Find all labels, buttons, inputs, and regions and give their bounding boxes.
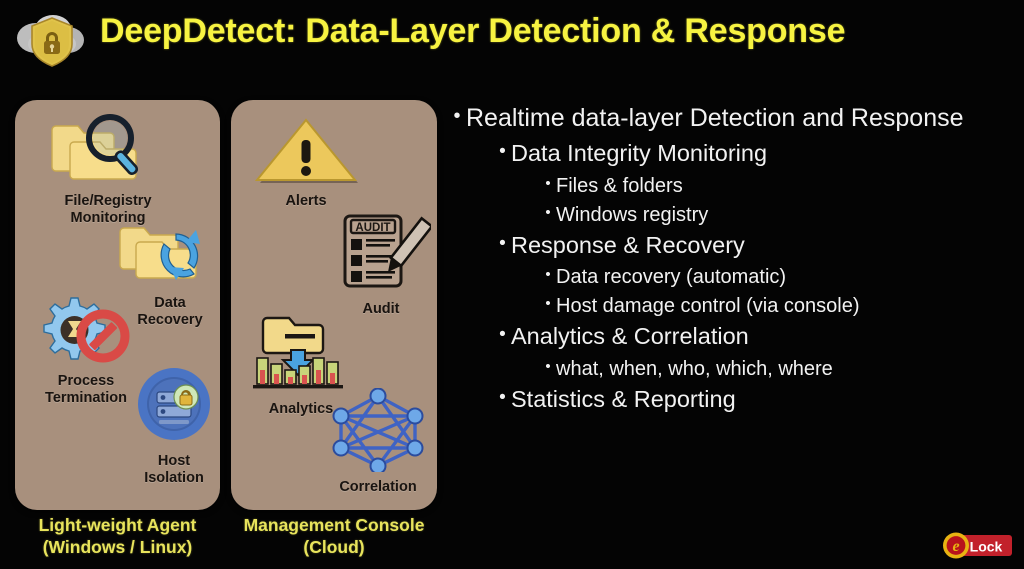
caption-light-weight-agent: Light-weight Agent (Windows / Linux) [6,514,229,559]
node-host-isolation: Host Isolation [119,364,229,486]
bullet-text: Data recovery (automatic) [556,267,786,287]
bullet-item: •Realtime data-layer Detection and Respo… [448,106,1024,131]
bullet-marker-icon: • [494,234,511,253]
slide-header: DeepDetect: Data-Layer Detection & Respo… [0,0,1024,78]
bullet-marker-icon: • [540,267,556,283]
caption-line-2: (Windows / Linux) [6,536,229,558]
folders-refresh-icon [111,218,229,293]
server-padlock-circle-icon [119,364,229,451]
node-graph-icon [319,388,437,477]
bullet-marker-icon: • [540,176,556,192]
page-title: DeepDetect: Data-Layer Detection & Respo… [100,12,845,51]
bullet-marker-icon: • [448,106,466,126]
node-file-registry-monitoring: File/Registry Monitoring [33,108,183,226]
bullet-item: •Host damage control (via console) [540,296,1024,316]
elock-wordmark: Lock [970,539,1003,555]
bullet-text: Statistics & Reporting [511,388,736,412]
folder-download-barchart-icon [237,308,365,399]
bullet-marker-icon: • [540,296,556,312]
bullet-item: •what, when, who, which, where [540,359,1024,379]
bullet-text: Host damage control (via console) [556,296,859,316]
bullet-item: •Response & Recovery [494,234,1024,258]
bullet-item: •Statistics & Reporting [494,388,1024,412]
elock-logo: e Lock [940,531,1014,561]
bullet-text: Data Integrity Monitoring [511,142,767,166]
bullet-marker-icon: • [494,388,511,407]
bullet-text: Windows registry [556,205,708,225]
node-alerts: Alerts [241,114,371,210]
gear-prohibited-icon [17,292,155,371]
bullet-marker-icon: • [494,142,511,161]
node-label: Host Isolation [119,453,229,486]
bullet-text: Files & folders [556,176,683,196]
caption-line-1: Light-weight Agent [6,514,229,536]
node-audit: AUDIT Audit [325,208,437,318]
caption-management-console: Management Console (Cloud) [225,514,443,559]
bullet-item: •Data recovery (automatic) [540,267,1024,287]
bullet-marker-icon: • [540,359,556,375]
feature-bullet-list: •Realtime data-layer Detection and Respo… [448,106,1024,421]
bullet-item: •Files & folders [540,176,1024,196]
caption-line-2: (Cloud) [225,536,443,558]
panel-management-console: Alerts AUDIT [231,100,437,510]
bullet-text: Analytics & Correlation [511,325,749,349]
caption-line-1: Management Console [225,514,443,536]
bullet-item: •Data Integrity Monitoring [494,142,1024,166]
bullet-text: what, when, who, which, where [556,359,833,379]
audit-badge-text: AUDIT [355,222,390,234]
bullet-text: Realtime data-layer Detection and Respon… [466,106,964,131]
bullet-item: •Windows registry [540,205,1024,225]
elock-mark-letter: e [952,538,959,555]
slide-canvas: DeepDetect: Data-Layer Detection & Respo… [0,0,1024,569]
bullet-text: Response & Recovery [511,234,745,258]
bullet-item: •Analytics & Correlation [494,325,1024,349]
node-label: Correlation [319,479,437,496]
panel-light-weight-agent: File/Registry Monitoring Data Recovery [15,100,220,510]
bullet-marker-icon: • [540,205,556,221]
bullet-marker-icon: • [494,325,511,344]
warning-triangle-icon [241,114,371,191]
cloud-shield-lock-icon [6,8,98,70]
audit-clipboard-pen-icon: AUDIT [325,208,437,299]
folders-magnifier-icon [33,108,183,191]
node-correlation: Correlation [319,388,437,496]
